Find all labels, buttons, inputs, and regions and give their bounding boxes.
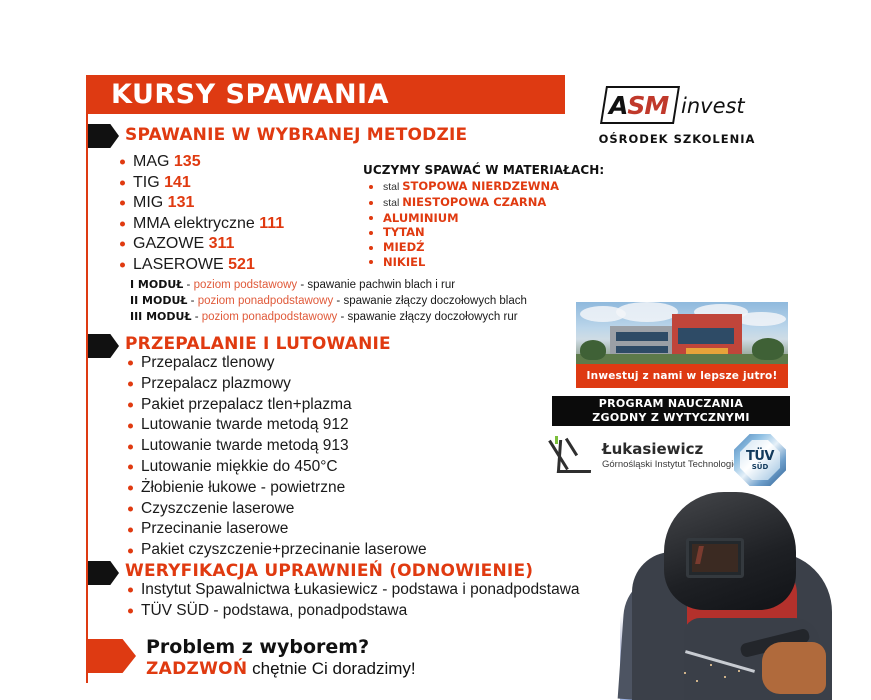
section-marker-methods-icon	[88, 124, 119, 148]
logo-letter-m: M	[644, 91, 668, 120]
method-code: 311	[209, 235, 235, 252]
program-banner-line1: PROGRAM NAUCZANIA	[599, 397, 743, 411]
cta-action: ZADZWOŃ chętnie Ci doradzimy!	[146, 659, 416, 679]
list-item: GAZOWE 311	[118, 234, 284, 255]
method-name: MIG	[133, 194, 163, 211]
module-dash: -	[337, 311, 347, 323]
cta-block: Problem z wyborem? ZADZWOŃ chętnie Ci do…	[146, 636, 416, 679]
list-item: MIG 131	[118, 193, 284, 214]
method-name: MMA elektryczne	[133, 215, 255, 232]
building-window	[616, 332, 668, 341]
list-item: Żłobienie łukowe - powietrzne	[126, 478, 427, 499]
method-code: 111	[259, 215, 284, 232]
material-name: TYTAN	[383, 225, 425, 239]
list-item: LASEROWE 521	[118, 255, 284, 276]
lukasiewicz-institute: Górnośląski Instytut Technologiczny	[602, 459, 753, 470]
list-item: MAG 135	[118, 152, 284, 173]
program-banner: PROGRAM NAUCZANIA ZGODNY Z WYTYCZNYMI	[552, 396, 790, 426]
lukasiewicz-text-block: Łukasiewicz Górnośląski Instytut Technol…	[602, 440, 753, 470]
list-item: TYTAN	[368, 225, 559, 240]
module-row: I MODUŁ - poziom podstawowy - spawanie p…	[130, 277, 527, 293]
brand-subtitle: OŚRODEK SZKOLENIA	[597, 132, 757, 146]
logo-letter-s: S	[627, 91, 644, 120]
module-label: I MODUŁ	[130, 278, 183, 291]
method-name: TIG	[133, 174, 160, 191]
method-code: 131	[168, 194, 195, 211]
list-item: Czyszczenie laserowe	[126, 499, 427, 520]
partner-logos: Łukasiewicz Górnośląski Instytut Technol…	[548, 434, 798, 490]
method-code: 521	[228, 256, 255, 273]
lukasiewicz-logo-icon	[552, 436, 596, 474]
method-code: 141	[164, 174, 191, 191]
title-bar: KURSY SPAWANIA	[87, 75, 565, 114]
cta-rest: chętnie Ci doradzimy!	[247, 659, 415, 678]
module-dash: -	[192, 311, 202, 323]
building-photo	[576, 302, 788, 364]
tuv-sub: SÜD	[734, 463, 786, 471]
module-label: II MODUŁ	[130, 294, 187, 307]
spark-icon	[696, 680, 698, 682]
module-desc: spawanie złączy doczołowych blach	[343, 295, 526, 307]
logo-asm-text: ASM	[609, 91, 668, 120]
list-item: Pakiet czyszczenie+przecinanie laserowe	[126, 540, 427, 561]
cutting-list: Przepalacz tlenowy Przepalacz plazmowy P…	[126, 353, 427, 561]
materials-list: stal STOPOWA NIERDZEWNA stal NIESTOPOWA …	[368, 179, 559, 270]
module-dash: -	[333, 295, 343, 307]
welder-photo	[592, 484, 871, 700]
tree-icon	[580, 340, 606, 360]
list-item: Przepalacz plazmowy	[126, 374, 427, 395]
material-name: STOPOWA NIERDZEWNA	[402, 179, 559, 193]
module-row: II MODUŁ - poziom ponadpodstawowy - spaw…	[130, 293, 527, 309]
lukasiewicz-green-tick-icon	[555, 436, 558, 444]
list-item: Instytut Spawalnictwa Łukasiewicz - pods…	[126, 580, 580, 601]
left-vertical-rule	[86, 75, 88, 683]
material-name: NIKIEL	[383, 255, 425, 269]
tuv-name: TÜV	[734, 449, 786, 464]
promo-photo-card: Inwestuj z nami w lepsze jutro!	[576, 302, 788, 388]
asminvest-logo-icon: ASM invest	[603, 86, 751, 126]
section-heading-verification: WERYFIKACJA UPRAWNIEŃ (ODNOWIENIE)	[125, 561, 533, 581]
list-item: ALUMINIUM	[368, 211, 559, 226]
section-marker-cutting-icon	[88, 334, 119, 358]
spark-icon	[684, 672, 686, 674]
tuv-sud-logo-icon: TÜV SÜD	[734, 434, 786, 486]
list-item: stal STOPOWA NIERDZEWNA	[368, 179, 559, 195]
promo-banner: Inwestuj z nami w lepsze jutro!	[576, 364, 788, 388]
cta-call-word: ZADZWOŃ	[146, 659, 247, 679]
method-code: 135	[174, 153, 201, 170]
method-name: GAZOWE	[133, 235, 204, 252]
spark-icon	[724, 676, 726, 678]
module-row: III MODUŁ - poziom ponadpodstawowy - spa…	[130, 309, 527, 325]
material-prefix: stal	[383, 197, 402, 209]
list-item: NIKIEL	[368, 255, 559, 270]
logo-letter-a: A	[609, 91, 627, 120]
cta-marker-icon	[88, 639, 136, 673]
module-desc: spawanie złączy doczołowych rur	[348, 311, 518, 323]
materials-heading: UCZYMY SPAWAĆ W MATERIAŁACH:	[363, 163, 604, 177]
lukasiewicz-name: Łukasiewicz	[602, 440, 753, 458]
module-dash: -	[297, 279, 307, 291]
list-item: Lutowanie miękkie do 450°C	[126, 457, 427, 478]
list-item: TIG 141	[118, 173, 284, 194]
module-level: poziom podstawowy	[194, 279, 298, 291]
list-item: stal NIESTOPOWA CZARNA	[368, 195, 559, 211]
section-marker-verification-icon	[88, 561, 119, 585]
material-name: ALUMINIUM	[383, 211, 459, 225]
cloud-icon	[736, 312, 786, 326]
verification-list: Instytut Spawalnictwa Łukasiewicz - pods…	[126, 580, 580, 622]
methods-list: MAG 135 TIG 141 MIG 131 MMA elektryczne …	[118, 152, 284, 275]
material-name: NIESTOPOWA CZARNA	[402, 195, 546, 209]
logo-invest-text: invest	[681, 94, 745, 118]
tuv-octagon-icon: TÜV SÜD	[734, 434, 786, 486]
spark-icon	[738, 670, 740, 672]
list-item: Lutowanie twarde metodą 913	[126, 436, 427, 457]
building-window	[616, 346, 668, 353]
material-prefix: stal	[383, 181, 402, 193]
list-item: Pakiet przepalacz tlen+plazma	[126, 395, 427, 416]
list-item: Przecinanie laserowe	[126, 519, 427, 540]
list-item: MMA elektryczne 111	[118, 214, 284, 235]
cloud-icon	[616, 302, 678, 322]
section-heading-methods: SPAWANIE W WYBRANEJ METODZIE	[125, 125, 467, 145]
list-item: Lutowanie twarde metodą 912	[126, 415, 427, 436]
welder-glove	[762, 642, 826, 694]
tree-icon	[752, 338, 784, 360]
modules-block: I MODUŁ - poziom podstawowy - spawanie p…	[130, 277, 527, 325]
module-level: poziom ponadpodstawowy	[198, 295, 334, 307]
spark-icon	[710, 664, 712, 666]
program-banner-line2: ZGODNY Z WYTYCZNYMI	[592, 411, 749, 425]
module-level: poziom ponadpodstawowy	[202, 311, 338, 323]
list-item: TÜV SÜD - podstawa, ponadpodstawa	[126, 601, 580, 622]
building-window	[678, 328, 734, 344]
list-item: MIEDŹ	[368, 240, 559, 255]
section-heading-cutting: PRZEPALANIE I LUTOWANIE	[125, 334, 391, 354]
module-dash: -	[183, 279, 193, 291]
page-title: KURSY SPAWANIA	[111, 79, 389, 110]
cta-question: Problem z wyborem?	[146, 636, 416, 658]
list-item: Przepalacz tlenowy	[126, 353, 427, 374]
method-name: MAG	[133, 153, 169, 170]
method-name: LASEROWE	[133, 256, 224, 273]
helmet-visor-icon	[686, 538, 744, 578]
flyer-page: KURSY SPAWANIA SPAWANIE W WYBRANEJ METOD…	[0, 0, 871, 700]
module-label: III MODUŁ	[130, 310, 192, 323]
material-name: MIEDŹ	[383, 240, 424, 254]
module-desc: spawanie pachwin blach i rur	[307, 279, 455, 291]
module-dash: -	[187, 295, 197, 307]
brand-logo: ASM invest OŚRODEK SZKOLENIA	[597, 86, 757, 146]
